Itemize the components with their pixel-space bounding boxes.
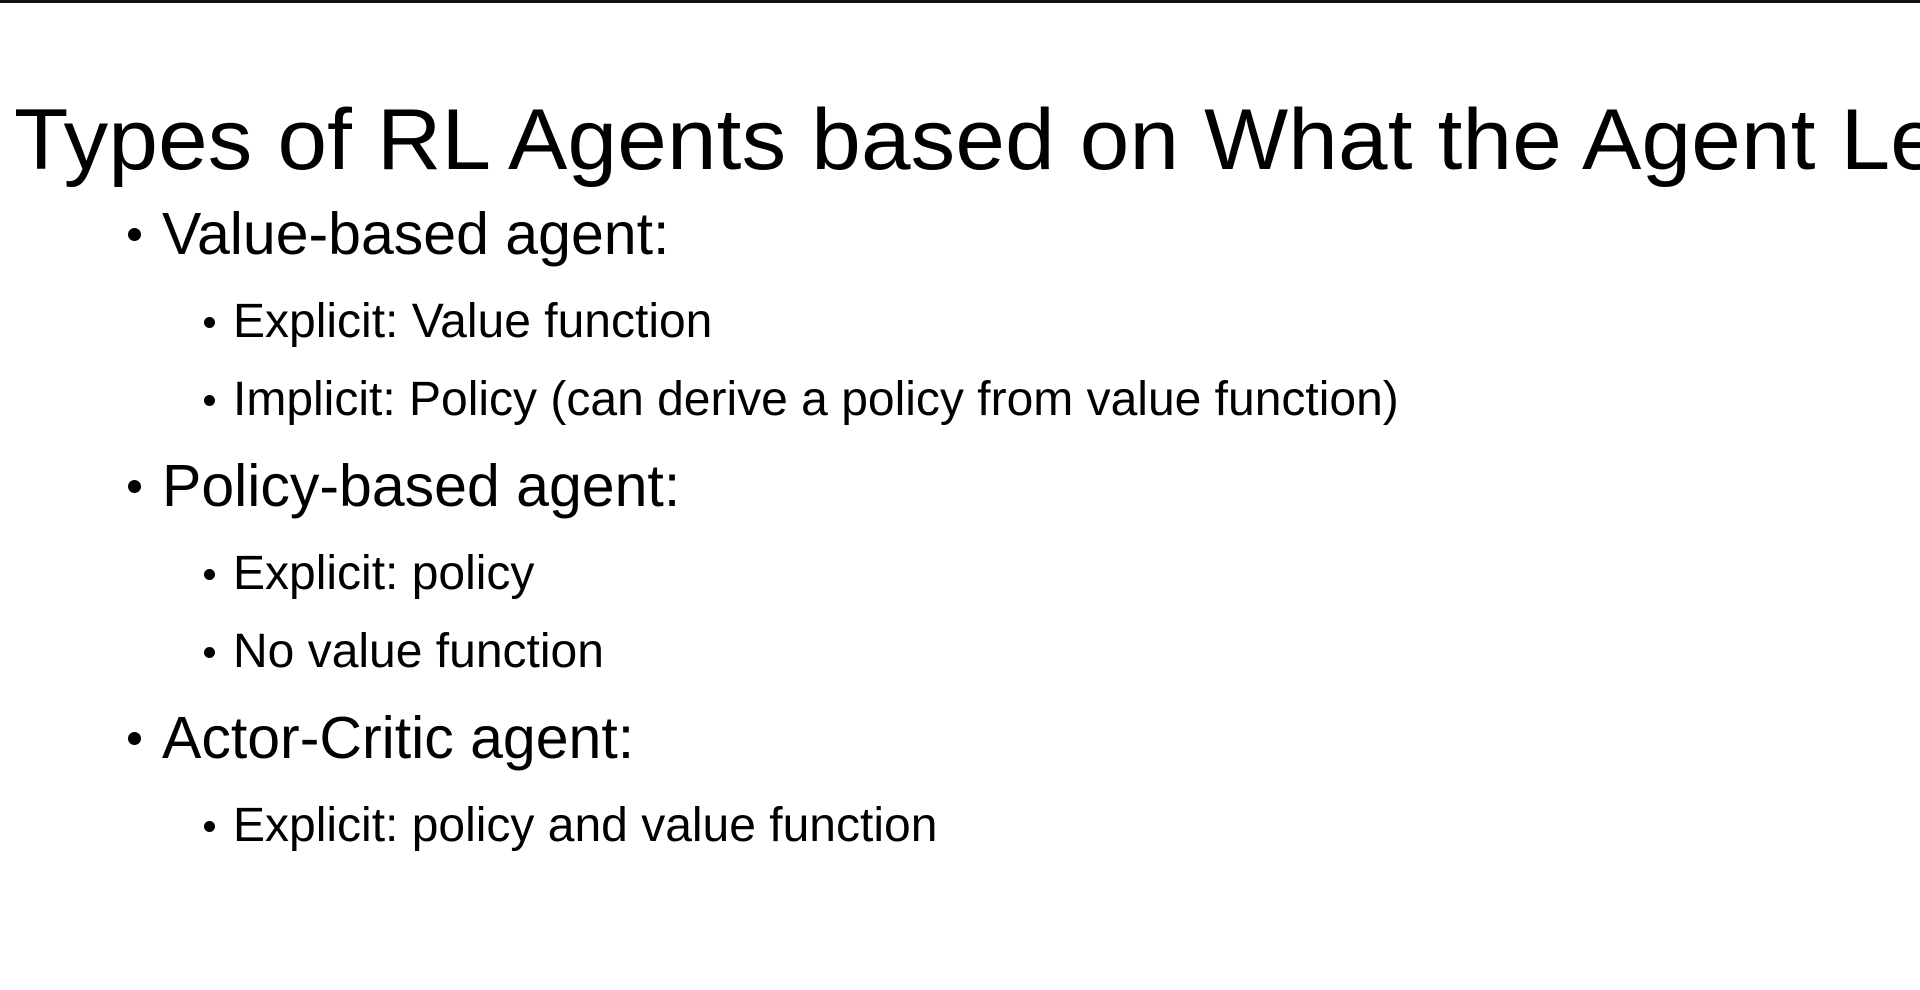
bullet-dot-icon [204, 395, 215, 406]
bullet-text: Policy-based agent: [162, 444, 680, 528]
bullet-text: Explicit: policy [233, 540, 534, 608]
bullet-item-level-1: Actor-Critic agent: [0, 696, 1920, 792]
bullet-item-level-1: Policy-based agent: [0, 444, 1920, 540]
slide-title: Types of RL Agents based on What the Age… [14, 94, 1920, 186]
bullet-item-level-1: Value-based agent: [0, 192, 1920, 288]
bullet-text: Actor-Critic agent: [162, 696, 634, 780]
bullet-dot-icon [128, 480, 141, 493]
bullet-dot-icon [204, 569, 215, 580]
bullet-text: Implicit: Policy (can derive a policy fr… [233, 366, 1399, 434]
bullet-text: No value function [233, 618, 604, 686]
bullet-dot-icon [204, 647, 215, 658]
top-edge-strip [0, 0, 1920, 3]
bullet-text: Explicit: policy and value function [233, 792, 937, 860]
slide-body-bullet-list: Value-based agent:Explicit: Value functi… [0, 192, 1920, 870]
bullet-item-level-2: Explicit: policy and value function [0, 792, 1920, 870]
bullet-item-level-2: Implicit: Policy (can derive a policy fr… [0, 366, 1920, 444]
bullet-dot-icon [204, 821, 215, 832]
bullet-dot-icon [128, 228, 141, 241]
presentation-slide: Types of RL Agents based on What the Age… [0, 0, 1920, 990]
bullet-dot-icon [204, 317, 215, 328]
bullet-item-level-2: No value function [0, 618, 1920, 696]
bullet-text: Value-based agent: [162, 192, 669, 276]
bullet-text: Explicit: Value function [233, 288, 712, 356]
bullet-item-level-2: Explicit: Value function [0, 288, 1920, 366]
bullet-dot-icon [128, 732, 141, 745]
bullet-item-level-2: Explicit: policy [0, 540, 1920, 618]
